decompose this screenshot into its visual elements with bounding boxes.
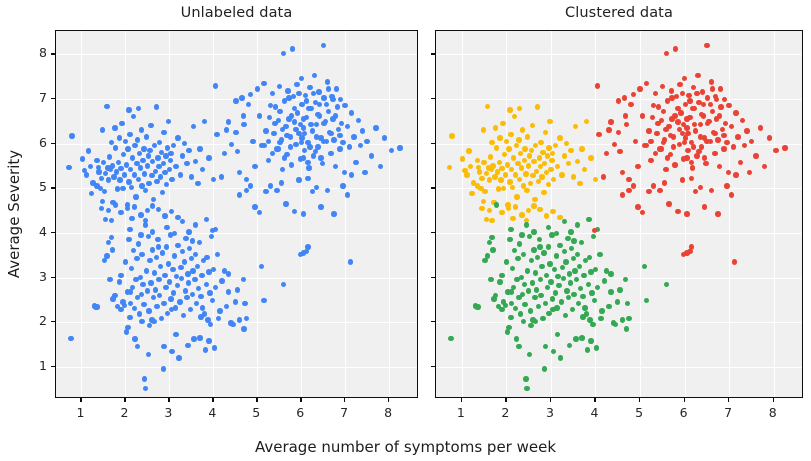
data-point-cluster-3 (631, 92, 636, 97)
data-point-cluster-3 (660, 84, 665, 89)
data-point-cluster-3 (665, 155, 670, 160)
data-point-unlabeled (126, 179, 131, 184)
data-point-unlabeled (131, 114, 136, 119)
data-point-unlabeled (216, 316, 221, 321)
data-point-cluster-1 (548, 167, 553, 172)
data-point-unlabeled (141, 146, 146, 151)
data-point-unlabeled (242, 301, 247, 306)
data-point-unlabeled (288, 144, 293, 149)
data-point-unlabeled (290, 46, 295, 51)
data-point-unlabeled (279, 180, 284, 185)
data-point-cluster-1 (553, 143, 558, 148)
data-point-cluster-2 (563, 313, 568, 318)
data-point-unlabeled (180, 249, 185, 254)
data-point-cluster-2 (542, 366, 547, 371)
data-point-unlabeled (154, 304, 159, 309)
x-tick-mark (505, 398, 506, 402)
data-point-cluster-3 (608, 119, 613, 124)
data-point-unlabeled (86, 148, 91, 153)
data-point-unlabeled (331, 211, 336, 216)
data-point-unlabeled (109, 235, 114, 240)
data-point-cluster-2 (522, 302, 527, 307)
data-point-cluster-3 (677, 127, 682, 132)
data-point-unlabeled (270, 91, 275, 96)
x-tick-mark (168, 398, 169, 402)
data-point-cluster-3 (635, 164, 640, 169)
data-point-cluster-1 (555, 164, 560, 169)
data-point-unlabeled (157, 140, 162, 145)
data-point-cluster-1 (532, 197, 537, 202)
data-point-unlabeled (156, 277, 161, 282)
data-point-unlabeled (224, 127, 229, 132)
data-point-cluster-1 (527, 153, 532, 158)
data-point-cluster-1 (539, 174, 544, 179)
data-point-cluster-1 (498, 177, 503, 182)
data-point-unlabeled (101, 160, 106, 165)
data-point-unlabeled (152, 270, 157, 275)
data-point-cluster-1 (506, 206, 511, 211)
y-tick-mark (431, 321, 435, 322)
data-point-unlabeled (155, 237, 160, 242)
data-point-cluster-2 (571, 292, 576, 297)
x-tick-mark (728, 398, 729, 402)
data-point-unlabeled (306, 165, 311, 170)
data-point-unlabeled (248, 92, 253, 97)
data-point-unlabeled (169, 177, 174, 182)
data-point-unlabeled (184, 161, 189, 166)
data-point-cluster-1 (531, 203, 536, 208)
data-point-cluster-3 (704, 139, 709, 144)
data-point-unlabeled (135, 344, 140, 349)
data-point-unlabeled (338, 97, 343, 102)
data-point-cluster-2 (589, 290, 594, 295)
data-point-unlabeled (69, 133, 74, 138)
data-point-cluster-3 (683, 135, 688, 140)
x-tick-mark (212, 398, 213, 402)
data-point-unlabeled (147, 323, 152, 328)
data-point-cluster-2 (550, 307, 555, 312)
data-point-unlabeled (285, 88, 290, 93)
data-point-unlabeled (117, 177, 122, 182)
data-point-cluster-3 (635, 204, 640, 209)
x-tick-mark (773, 398, 774, 402)
data-point-cluster-2 (569, 246, 574, 251)
data-point-unlabeled (307, 144, 312, 149)
data-point-cluster-2 (561, 276, 566, 281)
data-point-cluster-3 (704, 43, 709, 48)
data-point-unlabeled (296, 91, 301, 96)
y-tick-label: 6 (21, 135, 47, 150)
y-tick-mark (51, 277, 55, 278)
data-point-cluster-1 (516, 137, 521, 142)
y-tick-mark (51, 321, 55, 322)
data-point-unlabeled (197, 240, 202, 245)
data-point-cluster-3 (693, 189, 698, 194)
data-point-cluster-3 (653, 91, 658, 96)
data-point-cluster-2 (504, 259, 509, 264)
data-point-cluster-3 (686, 93, 691, 98)
data-point-unlabeled (203, 347, 208, 352)
data-point-unlabeled (342, 103, 347, 108)
data-point-unlabeled (244, 316, 249, 321)
data-point-unlabeled (230, 322, 235, 327)
data-point-unlabeled (397, 145, 402, 150)
data-point-cluster-2 (598, 316, 603, 321)
data-point-unlabeled (164, 225, 169, 230)
data-point-unlabeled (289, 113, 294, 118)
data-point-cluster-3 (673, 46, 678, 51)
data-point-cluster-3 (705, 95, 710, 100)
x-tick-mark (684, 398, 685, 402)
data-point-cluster-3 (718, 86, 723, 91)
data-point-cluster-2 (526, 288, 531, 293)
data-point-cluster-1 (526, 208, 531, 213)
data-point-cluster-1 (449, 133, 454, 138)
data-point-unlabeled (237, 170, 242, 175)
data-point-unlabeled (358, 143, 363, 148)
data-point-unlabeled (140, 158, 145, 163)
data-point-cluster-3 (762, 164, 767, 169)
data-point-cluster-3 (612, 142, 617, 147)
data-point-unlabeled (125, 206, 130, 211)
data-point-cluster-2 (570, 307, 575, 312)
data-point-unlabeled (233, 130, 238, 135)
data-point-unlabeled (148, 123, 153, 128)
data-point-cluster-3 (740, 118, 745, 123)
data-point-cluster-2 (558, 355, 563, 360)
data-point-unlabeled (257, 210, 262, 215)
data-point-unlabeled (177, 299, 182, 304)
data-point-cluster-1 (487, 208, 492, 213)
data-point-cluster-1 (466, 148, 471, 153)
data-point-cluster-1 (524, 188, 529, 193)
data-point-unlabeled (280, 127, 285, 132)
data-point-cluster-1 (494, 145, 499, 150)
data-point-unlabeled (321, 139, 326, 144)
data-point-unlabeled (162, 213, 167, 218)
data-point-cluster-3 (659, 118, 664, 123)
data-point-unlabeled (168, 296, 173, 301)
data-point-unlabeled (321, 121, 326, 126)
data-point-cluster-3 (644, 143, 649, 148)
data-point-unlabeled (235, 287, 240, 292)
data-point-unlabeled (226, 119, 231, 124)
gridline-horizontal (56, 322, 417, 323)
data-point-unlabeled (179, 276, 184, 281)
data-point-unlabeled (178, 172, 183, 177)
data-point-cluster-2 (555, 332, 560, 337)
data-point-unlabeled (100, 199, 105, 204)
data-point-unlabeled (261, 143, 266, 148)
data-point-unlabeled (102, 189, 107, 194)
data-point-unlabeled (154, 255, 159, 260)
data-point-cluster-3 (596, 132, 601, 137)
data-point-cluster-3 (640, 113, 645, 118)
data-point-cluster-1 (538, 140, 543, 145)
data-point-unlabeled (173, 164, 178, 169)
data-point-cluster-2 (499, 307, 504, 312)
data-point-unlabeled (215, 252, 220, 257)
x-tick-label: 1 (65, 405, 95, 420)
data-point-unlabeled (281, 51, 286, 56)
x-tick-mark (594, 398, 595, 402)
data-point-unlabeled (274, 188, 279, 193)
data-point-cluster-2 (509, 289, 514, 294)
data-point-cluster-3 (714, 97, 719, 102)
data-point-unlabeled (112, 125, 117, 130)
data-point-unlabeled (204, 255, 209, 260)
data-point-cluster-3 (702, 204, 707, 209)
data-point-unlabeled (153, 287, 158, 292)
data-point-unlabeled (237, 192, 242, 197)
data-point-cluster-3 (710, 86, 715, 91)
data-point-cluster-1 (506, 146, 511, 151)
data-point-unlabeled (169, 349, 174, 354)
data-point-cluster-1 (479, 206, 484, 211)
data-point-cluster-2 (537, 237, 542, 242)
data-point-unlabeled (219, 278, 224, 283)
data-point-unlabeled (161, 161, 166, 166)
data-point-cluster-2 (489, 235, 494, 240)
data-point-cluster-1 (447, 165, 452, 170)
data-point-cluster-2 (579, 240, 584, 245)
data-point-unlabeled (163, 285, 168, 290)
data-point-cluster-1 (593, 177, 598, 182)
data-point-unlabeled (239, 95, 244, 100)
data-point-cluster-2 (487, 240, 492, 245)
data-point-cluster-2 (623, 277, 628, 282)
gridline-vertical (345, 31, 346, 397)
x-tick-mark (344, 398, 345, 402)
data-point-cluster-3 (624, 122, 629, 127)
data-point-unlabeled (335, 104, 340, 109)
data-point-cluster-1 (484, 217, 489, 222)
data-point-cluster-2 (572, 268, 577, 273)
data-point-cluster-2 (488, 277, 493, 282)
data-point-unlabeled (118, 166, 123, 171)
x-tick-label: 8 (373, 405, 403, 420)
y-tick-label: 5 (21, 179, 47, 194)
data-point-unlabeled (197, 335, 202, 340)
data-point-cluster-1 (575, 159, 580, 164)
data-point-unlabeled (301, 116, 306, 121)
data-point-unlabeled (139, 127, 144, 132)
data-point-unlabeled (364, 139, 369, 144)
data-point-unlabeled (118, 273, 123, 278)
data-point-cluster-2 (555, 274, 560, 279)
data-point-unlabeled (266, 139, 271, 144)
data-point-cluster-2 (497, 279, 502, 284)
data-point-unlabeled (349, 172, 354, 177)
data-point-cluster-3 (710, 109, 715, 114)
data-point-unlabeled (294, 82, 299, 87)
y-tick-mark (431, 98, 435, 99)
data-point-unlabeled (373, 125, 378, 130)
data-point-cluster-3 (648, 139, 653, 144)
data-point-unlabeled (124, 329, 129, 334)
data-point-unlabeled (123, 259, 128, 264)
data-point-cluster-2 (557, 243, 562, 248)
data-point-cluster-1 (460, 156, 465, 161)
x-tick-label: 3 (535, 405, 565, 420)
data-point-unlabeled (233, 98, 238, 103)
data-point-unlabeled (347, 144, 352, 149)
data-point-unlabeled (107, 154, 112, 159)
data-point-unlabeled (151, 319, 156, 324)
data-point-cluster-2 (560, 265, 565, 270)
data-point-cluster-1 (475, 183, 480, 188)
data-point-cluster-2 (494, 202, 499, 207)
data-point-cluster-1 (517, 177, 522, 182)
data-point-unlabeled (252, 204, 257, 209)
data-point-unlabeled (184, 295, 189, 300)
data-point-unlabeled (159, 316, 164, 321)
data-point-cluster-3 (691, 144, 696, 149)
x-tick-label: 2 (490, 405, 520, 420)
data-point-unlabeled (135, 137, 140, 142)
data-point-unlabeled (292, 209, 297, 214)
y-tick-label: 3 (21, 269, 47, 284)
data-point-unlabeled (107, 277, 112, 282)
data-point-unlabeled (68, 336, 73, 341)
data-point-unlabeled (189, 174, 194, 179)
data-point-unlabeled (342, 170, 347, 175)
data-point-unlabeled (142, 376, 147, 381)
data-point-unlabeled (246, 102, 251, 107)
y-tick-mark (51, 53, 55, 54)
data-point-unlabeled (318, 155, 323, 160)
data-point-unlabeled (267, 115, 272, 120)
gridline-horizontal (436, 54, 802, 55)
data-point-unlabeled (312, 73, 317, 78)
data-point-unlabeled (141, 302, 146, 307)
data-point-cluster-3 (681, 252, 686, 257)
data-point-cluster-2 (567, 343, 572, 348)
data-point-unlabeled (295, 110, 300, 115)
data-point-cluster-2 (592, 298, 597, 303)
data-point-cluster-2 (586, 217, 591, 222)
gridline-vertical (169, 31, 170, 397)
data-point-cluster-1 (526, 163, 531, 168)
data-point-cluster-3 (744, 128, 749, 133)
data-point-cluster-2 (513, 306, 518, 311)
gridline-vertical (462, 31, 463, 397)
data-point-cluster-3 (689, 176, 694, 181)
data-point-cluster-3 (661, 109, 666, 114)
data-point-cluster-3 (698, 134, 703, 139)
data-point-cluster-3 (693, 128, 698, 133)
data-point-cluster-1 (488, 154, 493, 159)
data-point-unlabeled (298, 252, 303, 257)
data-point-unlabeled (198, 314, 203, 319)
data-point-unlabeled (182, 141, 187, 146)
data-point-cluster-2 (537, 244, 542, 249)
data-point-unlabeled (226, 271, 231, 276)
data-point-cluster-3 (717, 164, 722, 169)
data-point-unlabeled (145, 208, 150, 213)
data-point-unlabeled (270, 151, 275, 156)
data-point-cluster-2 (508, 227, 513, 232)
data-point-cluster-2 (538, 277, 543, 282)
data-point-unlabeled (315, 112, 320, 117)
y-tick-mark (51, 187, 55, 188)
data-point-cluster-3 (721, 133, 726, 138)
data-point-cluster-3 (637, 86, 642, 91)
data-point-unlabeled (186, 229, 191, 234)
data-point-cluster-3 (738, 160, 743, 165)
data-point-unlabeled (186, 280, 191, 285)
data-point-unlabeled (321, 43, 326, 48)
data-point-cluster-3 (606, 127, 611, 132)
data-point-cluster-2 (522, 282, 527, 287)
data-point-cluster-3 (720, 127, 725, 132)
data-point-cluster-1 (534, 169, 539, 174)
data-point-unlabeled (206, 338, 211, 343)
data-point-cluster-2 (493, 293, 498, 298)
data-point-unlabeled (175, 135, 180, 140)
data-point-unlabeled (325, 79, 330, 84)
data-point-unlabeled (303, 93, 308, 98)
data-point-unlabeled (345, 124, 350, 129)
data-point-unlabeled (191, 124, 196, 129)
data-point-unlabeled (137, 311, 142, 316)
data-point-unlabeled (168, 151, 173, 156)
gridline-horizontal (436, 367, 802, 368)
data-point-unlabeled (144, 268, 149, 273)
data-point-cluster-3 (620, 192, 625, 197)
data-point-unlabeled (160, 190, 165, 195)
data-point-unlabeled (226, 289, 231, 294)
data-point-unlabeled (316, 89, 321, 94)
data-point-unlabeled (382, 135, 387, 140)
data-point-unlabeled (143, 386, 148, 391)
data-point-unlabeled (133, 194, 138, 199)
data-point-cluster-1 (511, 155, 516, 160)
data-point-cluster-3 (595, 83, 600, 88)
data-point-cluster-1 (559, 172, 564, 177)
data-point-unlabeled (283, 201, 288, 206)
data-point-unlabeled (113, 202, 118, 207)
data-point-unlabeled (296, 177, 301, 182)
data-point-cluster-1 (537, 155, 542, 160)
data-point-cluster-3 (640, 210, 645, 215)
data-point-unlabeled (102, 258, 107, 263)
data-point-unlabeled (104, 104, 109, 109)
data-point-cluster-1 (530, 123, 535, 128)
data-point-unlabeled (151, 197, 156, 202)
data-point-unlabeled (197, 146, 202, 151)
data-point-unlabeled (241, 122, 246, 127)
data-point-cluster-1 (579, 146, 584, 151)
data-point-cluster-2 (550, 296, 555, 301)
data-point-unlabeled (213, 285, 218, 290)
y-tick-label: 8 (21, 45, 47, 60)
data-point-cluster-1 (497, 160, 502, 165)
data-point-unlabeled (119, 121, 124, 126)
data-point-cluster-2 (581, 273, 586, 278)
data-point-unlabeled (237, 317, 242, 322)
data-point-cluster-1 (557, 135, 562, 140)
data-point-unlabeled (99, 176, 104, 181)
data-point-unlabeled (139, 319, 144, 324)
data-point-cluster-1 (504, 139, 509, 144)
data-point-cluster-1 (500, 121, 505, 126)
data-point-cluster-2 (578, 286, 583, 291)
data-point-unlabeled (146, 308, 151, 313)
data-point-cluster-3 (671, 144, 676, 149)
data-point-cluster-3 (724, 140, 729, 145)
data-point-cluster-2 (573, 336, 578, 341)
